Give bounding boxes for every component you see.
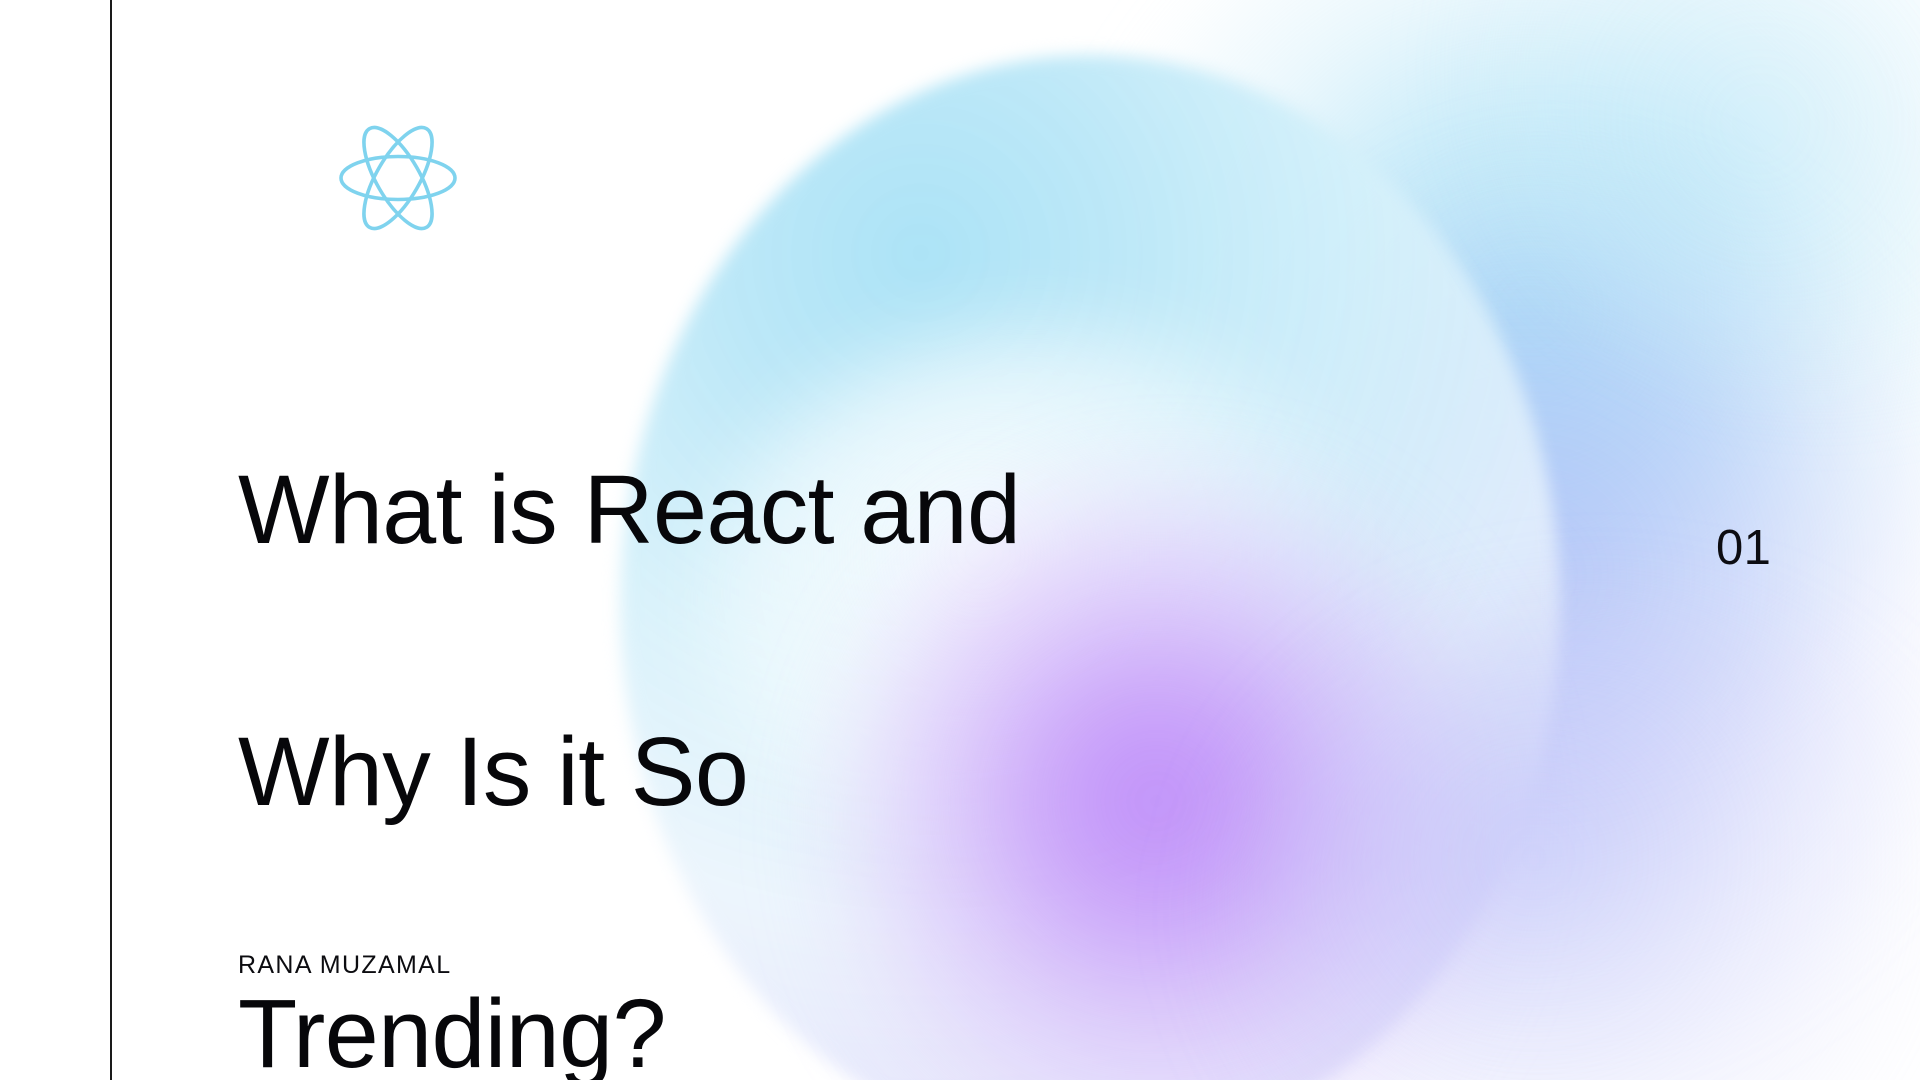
lavender-glow-bottom-right bbox=[1230, 610, 1920, 1080]
react-atom-logo-icon bbox=[338, 122, 458, 234]
author-byline: RANA MUZAMAL bbox=[238, 948, 451, 982]
left-margin-rule bbox=[110, 0, 112, 1080]
periwinkle-glow-right bbox=[1180, 170, 1920, 1070]
cyan-glow-right bbox=[1080, 0, 1920, 760]
presentation-slide: What is React and Why Is it So Trending?… bbox=[0, 0, 1920, 1080]
cyan-haze-top-right bbox=[1480, 0, 1920, 380]
slide-number: 01 bbox=[1716, 518, 1836, 578]
title-line-2: Why Is it So bbox=[238, 706, 1158, 837]
title-line-1: What is React and bbox=[238, 444, 1158, 575]
title-line-3: Trending? bbox=[238, 968, 1158, 1080]
